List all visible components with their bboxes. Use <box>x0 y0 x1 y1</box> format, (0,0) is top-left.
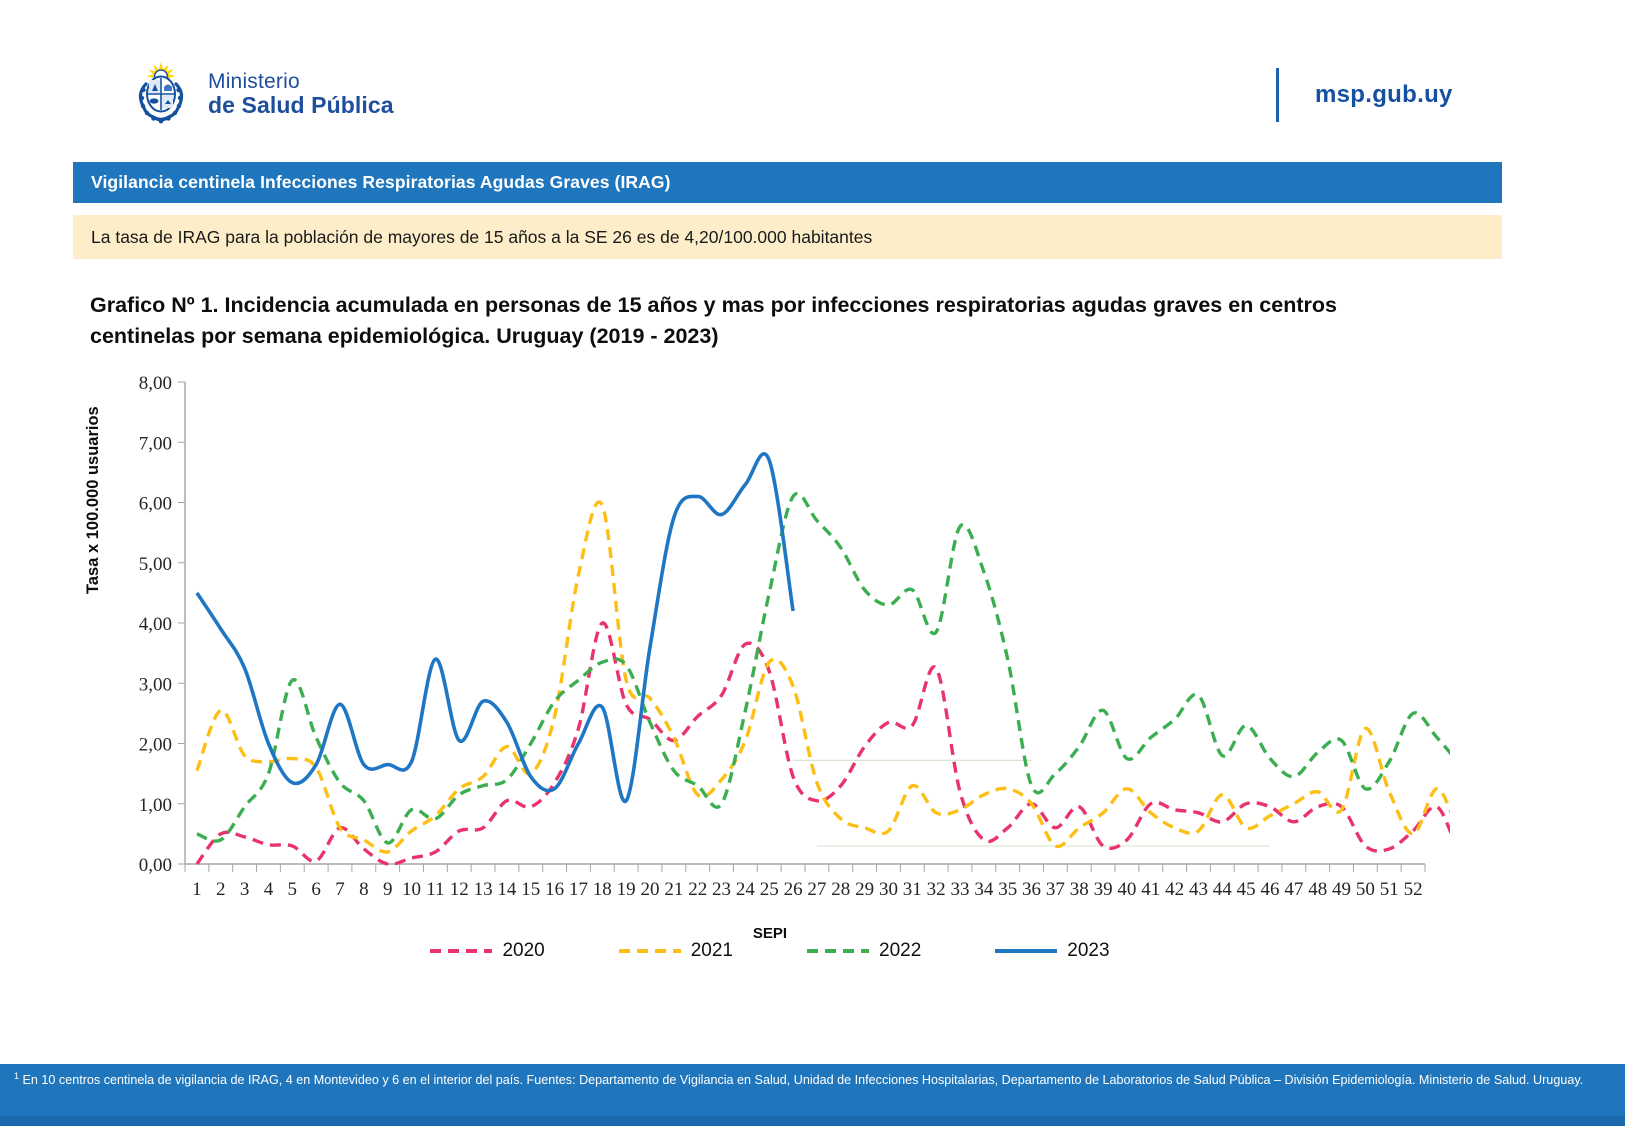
legend-label-2022: 2022 <box>879 940 921 962</box>
x-tick-label: 7 <box>335 879 345 900</box>
x-tick-label: 50 <box>1356 879 1375 900</box>
x-tick-label: 43 <box>1189 879 1208 900</box>
y-tick-label: 8,00 <box>139 373 172 394</box>
legend-item-2023[interactable]: 2023 <box>995 940 1109 962</box>
x-tick-label: 21 <box>664 879 683 900</box>
ministry-line-1: Ministerio <box>208 71 394 93</box>
y-tick-label: 0,00 <box>139 855 172 876</box>
x-tick-label: 33 <box>951 879 970 900</box>
x-tick-label: 42 <box>1165 879 1184 900</box>
footnote-bar: 1 En 10 centros centinela de vigilancia … <box>0 1064 1625 1116</box>
chart-legend: 2020202120222023 <box>90 940 1450 962</box>
x-tick-label: 13 <box>474 879 493 900</box>
legend-item-2021[interactable]: 2021 <box>619 940 733 962</box>
legend-swatch-2021 <box>619 949 681 953</box>
y-tick-label: 5,00 <box>139 554 172 575</box>
x-tick-label: 20 <box>641 879 660 900</box>
legend-label-2023: 2023 <box>1067 940 1109 962</box>
x-tick-label: 24 <box>736 879 756 900</box>
series-line-2022 <box>197 493 1450 842</box>
series-line-2023 <box>197 454 793 802</box>
legend-item-2020[interactable]: 2020 <box>430 940 544 962</box>
x-tick-label: 35 <box>998 879 1017 900</box>
x-tick-label: 6 <box>311 879 321 900</box>
x-tick-label: 46 <box>1261 879 1280 900</box>
x-tick-label: 51 <box>1380 879 1399 900</box>
ministry-line-2: de Salud Pública <box>208 93 394 117</box>
legend-swatch-2023 <box>995 949 1057 953</box>
y-tick-label: 1,00 <box>139 795 172 816</box>
uruguay-coat-of-arms-icon <box>130 60 192 128</box>
x-tick-label: 44 <box>1213 879 1233 900</box>
x-tick-label: 1 <box>192 879 202 900</box>
x-tick-label: 15 <box>521 879 540 900</box>
x-tick-label: 5 <box>288 879 298 900</box>
x-tick-label: 31 <box>903 879 922 900</box>
x-tick-label: 37 <box>1046 879 1065 900</box>
vertical-divider <box>1276 68 1279 122</box>
x-tick-label: 3 <box>240 879 250 900</box>
legend-item-2022[interactable]: 2022 <box>807 940 921 962</box>
x-tick-label: 39 <box>1094 879 1113 900</box>
x-tick-label: 19 <box>617 879 636 900</box>
x-tick-label: 16 <box>545 879 564 900</box>
x-tick-label: 34 <box>974 879 994 900</box>
x-tick-label: 29 <box>855 879 874 900</box>
x-tick-label: 52 <box>1404 879 1423 900</box>
y-tick-label: 2,00 <box>139 735 172 756</box>
x-tick-label: 49 <box>1332 879 1351 900</box>
highlight-note-banner: La tasa de IRAG para la población de may… <box>73 215 1502 259</box>
site-url: msp.gub.uy <box>1315 81 1453 109</box>
footnote-marker: 1 <box>14 1071 19 1081</box>
x-tick-label: 25 <box>760 879 779 900</box>
y-tick-label: 4,00 <box>139 614 172 635</box>
ministry-wordmark: Ministerio de Salud Pública <box>208 71 394 117</box>
x-tick-label: 12 <box>450 879 469 900</box>
x-tick-label: 14 <box>497 879 517 900</box>
x-tick-label: 36 <box>1022 879 1041 900</box>
x-tick-label: 45 <box>1237 879 1256 900</box>
legend-label-2020: 2020 <box>502 940 544 962</box>
line-chart-plot: 0,001,002,003,004,005,006,007,008,001234… <box>90 372 1450 932</box>
x-tick-label: 41 <box>1141 879 1160 900</box>
chart-container: Tasa x 100.000 usuarios 0,001,002,003,00… <box>90 372 1450 932</box>
ministry-logo: Ministerio de Salud Pública <box>130 60 394 128</box>
x-tick-label: 11 <box>426 879 444 900</box>
x-tick-label: 47 <box>1284 879 1303 900</box>
x-tick-label: 40 <box>1117 879 1136 900</box>
y-tick-label: 6,00 <box>139 494 172 515</box>
footer-bottom-edge <box>0 1116 1625 1126</box>
series-line-2021 <box>197 502 1450 852</box>
section-title-banner: Vigilancia centinela Infecciones Respira… <box>73 162 1502 203</box>
x-tick-label: 18 <box>593 879 612 900</box>
x-tick-label: 38 <box>1070 879 1089 900</box>
footnote-text: En 10 centros centinela de vigilancia de… <box>23 1073 1584 1087</box>
x-tick-label: 2 <box>216 879 226 900</box>
page-header: Ministerio de Salud Pública msp.gub.uy <box>0 0 1625 150</box>
site-url-block: msp.gub.uy <box>1276 68 1453 122</box>
legend-swatch-2022 <box>807 949 869 953</box>
x-tick-label: 10 <box>402 879 421 900</box>
x-tick-label: 32 <box>927 879 946 900</box>
x-tick-label: 30 <box>879 879 898 900</box>
x-tick-label: 8 <box>359 879 369 900</box>
x-tick-label: 22 <box>688 879 707 900</box>
x-tick-label: 48 <box>1308 879 1327 900</box>
x-tick-label: 26 <box>784 879 803 900</box>
y-tick-label: 7,00 <box>139 433 172 454</box>
x-tick-label: 28 <box>831 879 850 900</box>
legend-label-2021: 2021 <box>691 940 733 962</box>
x-tick-label: 4 <box>264 879 274 900</box>
x-tick-label: 27 <box>807 879 826 900</box>
page-title: Grafico Nº 1. Incidencia acumulada en pe… <box>90 290 1430 351</box>
x-tick-label: 9 <box>383 879 393 900</box>
y-tick-label: 3,00 <box>139 674 172 695</box>
x-tick-label: 17 <box>569 879 588 900</box>
legend-swatch-2020 <box>430 949 492 953</box>
x-tick-label: 23 <box>712 879 731 900</box>
